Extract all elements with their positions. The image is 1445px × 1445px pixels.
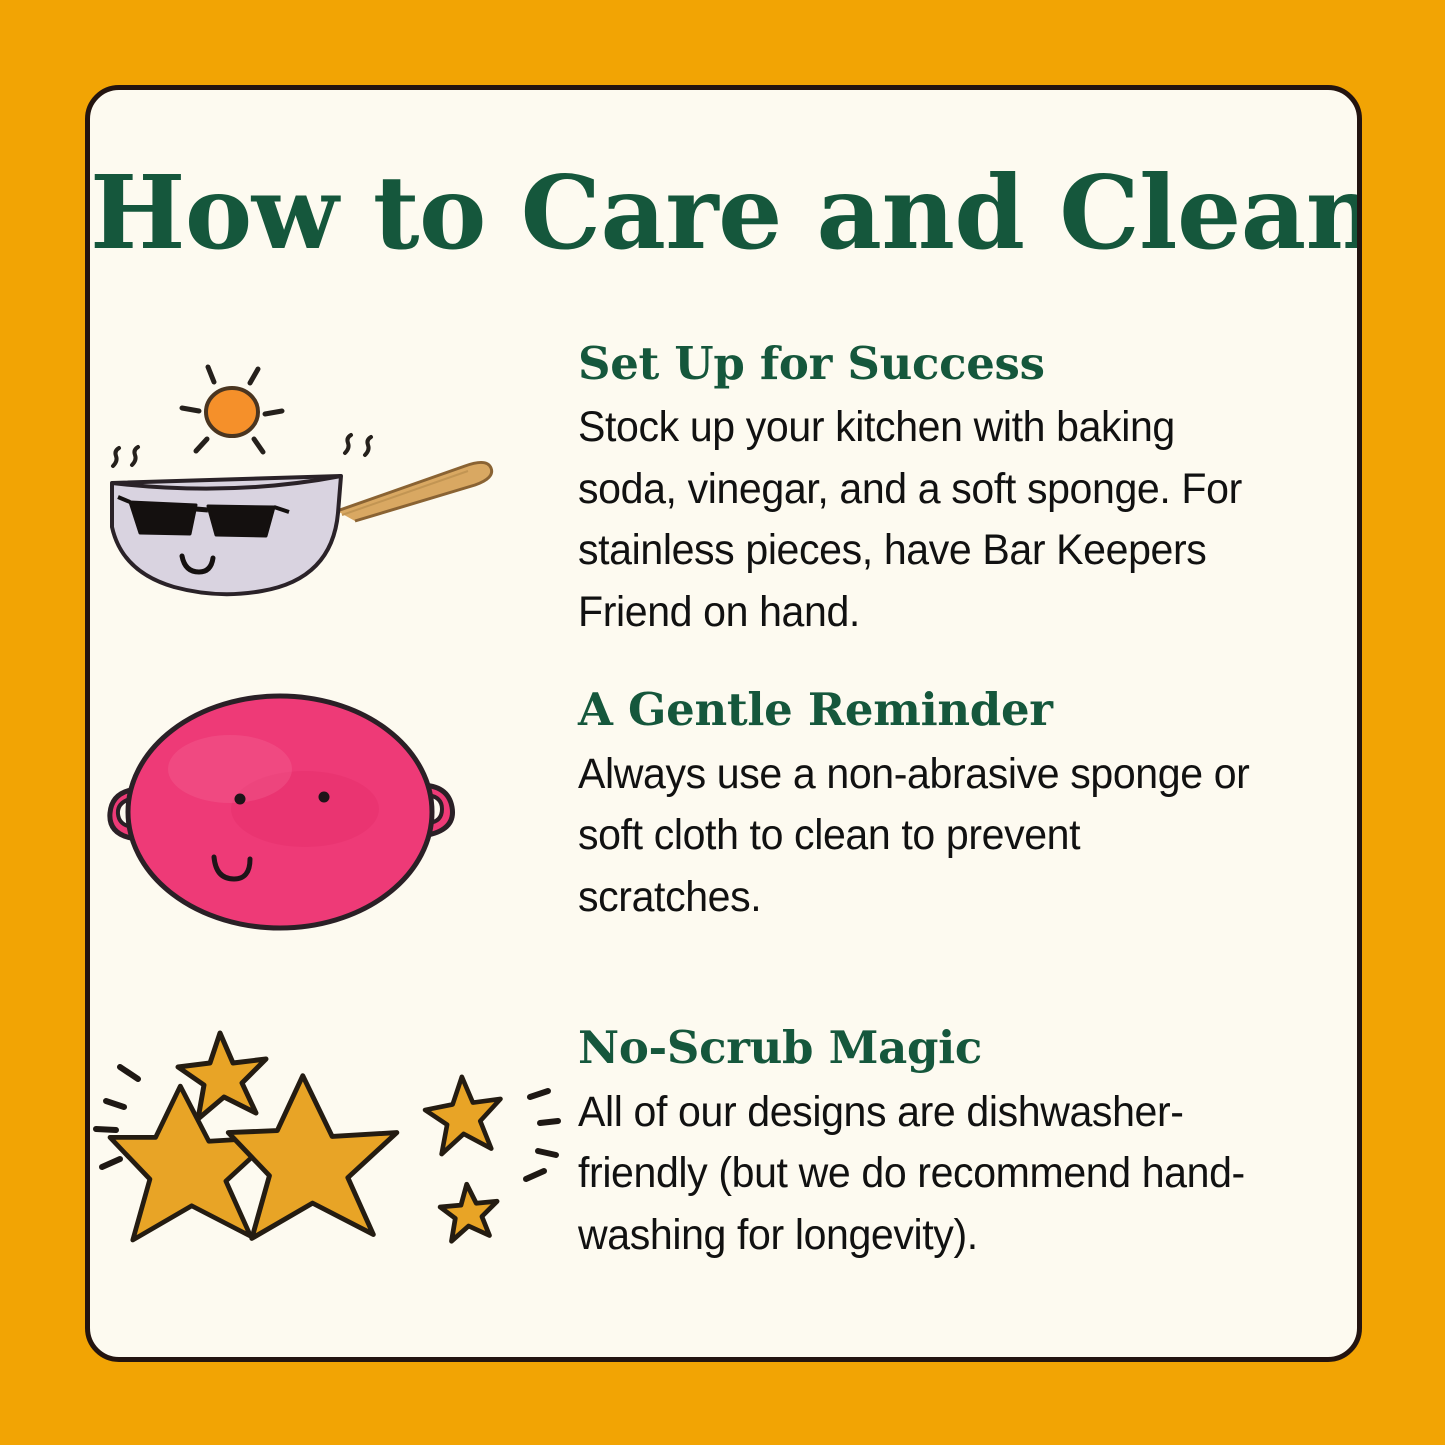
care-section-a-gentle-reminder: A Gentle Reminder Always use a non-abras…: [90, 681, 1357, 981]
care-section-no-scrub-magic: No-Scrub Magic All of our designs are di…: [90, 1019, 1357, 1319]
care-section-body: Always use a non-abrasive sponge or soft…: [578, 744, 1265, 928]
care-section-heading: Set Up for Success: [578, 339, 1297, 389]
care-and-clean-card: How to Care and Clean: [85, 85, 1362, 1362]
care-section-copy: Set Up for Success Stock up your kitchen…: [578, 335, 1357, 643]
care-section-set-up-for-success: Set Up for Success Stock up your kitchen…: [90, 335, 1357, 643]
care-section-copy: No-Scrub Magic All of our designs are di…: [578, 1019, 1357, 1266]
care-section-copy: A Gentle Reminder Always use a non-abras…: [578, 681, 1357, 928]
care-section-body: Stock up your kitchen with baking soda, …: [578, 397, 1265, 643]
page-title-text: How to Care and Clean: [90, 153, 1362, 272]
frying-pan-with-sunglasses-and-sun-icon: [90, 335, 578, 635]
pink-dutch-oven-pot-with-face-icon: [90, 681, 578, 981]
page-title: How to Care and Clean: [90, 158, 1357, 267]
care-instructions-list: Set Up for Success Stock up your kitchen…: [90, 335, 1357, 1319]
sparkling-stars-icon: [90, 1019, 578, 1319]
care-section-body: All of our designs are dishwasher-friend…: [578, 1082, 1265, 1266]
care-section-heading: A Gentle Reminder: [578, 685, 1297, 735]
care-section-heading: No-Scrub Magic: [578, 1023, 1297, 1073]
